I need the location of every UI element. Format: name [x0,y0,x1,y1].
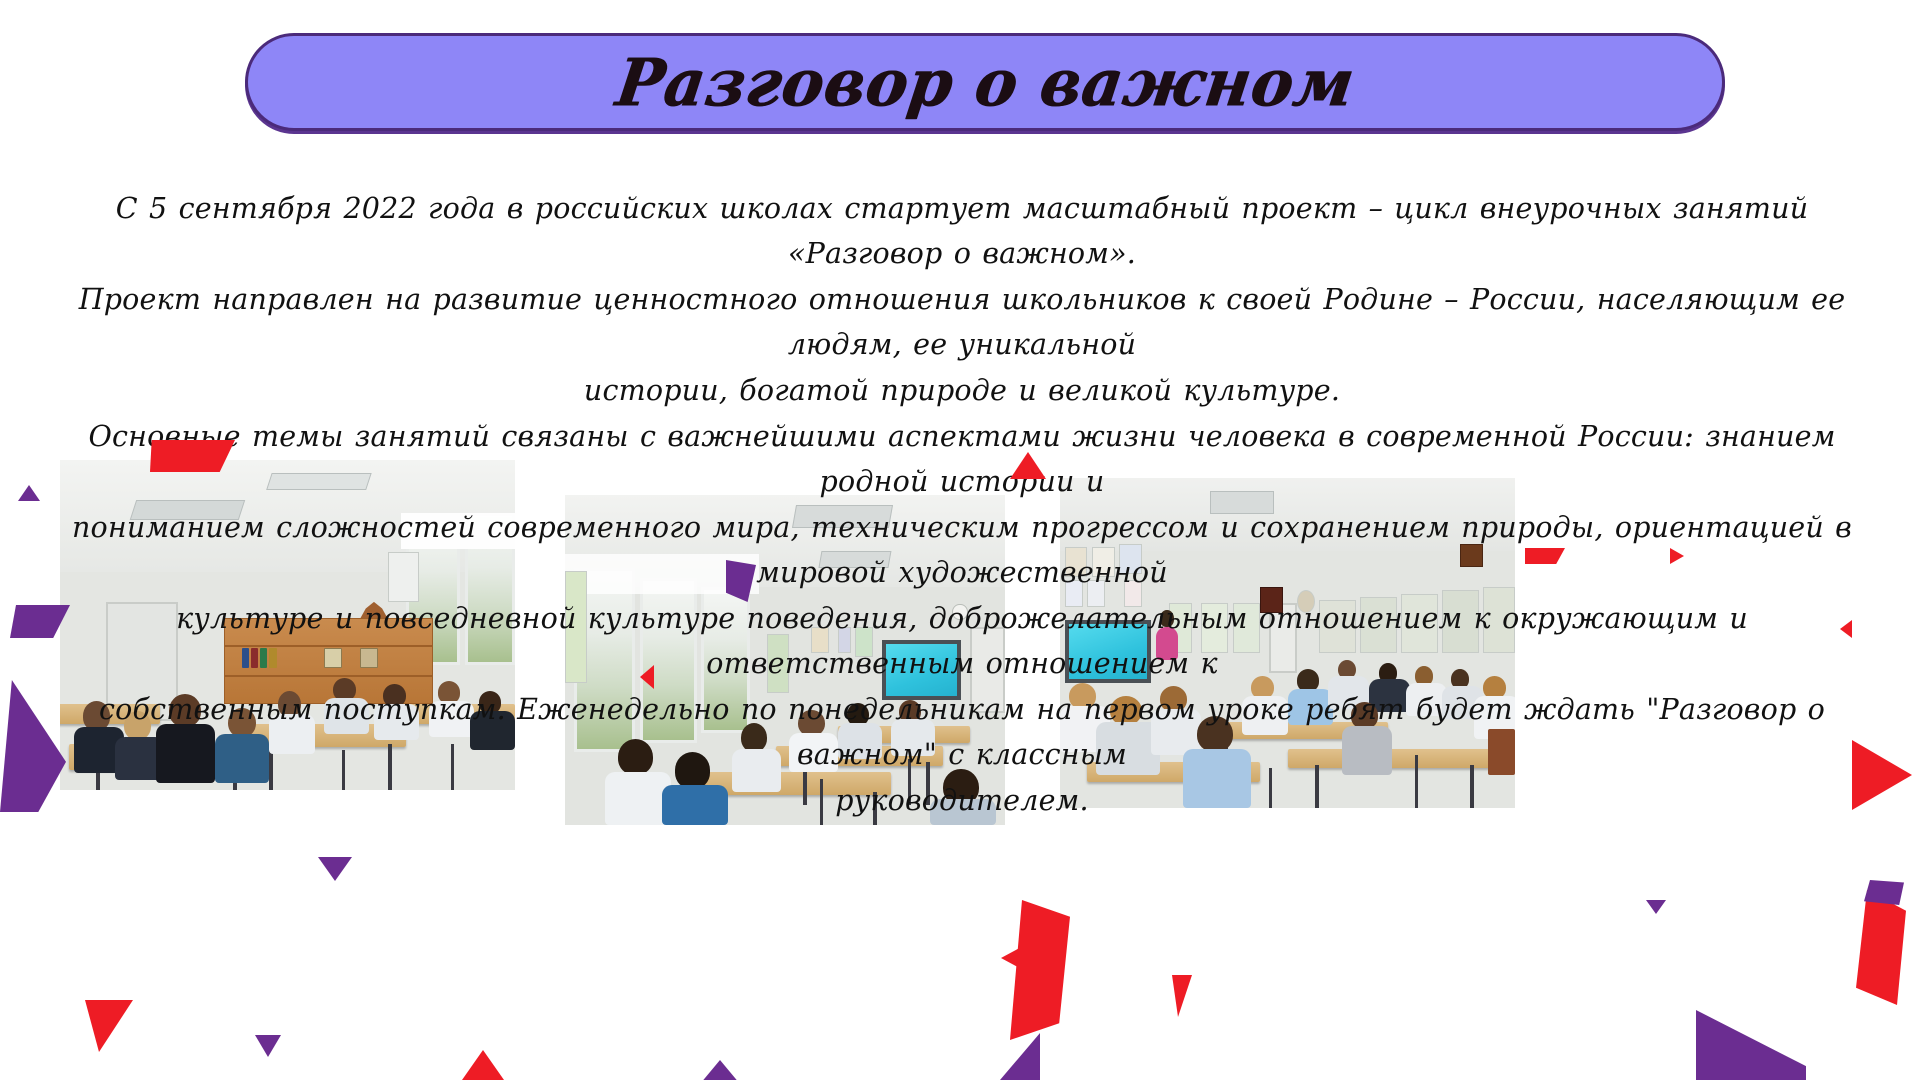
purple-triangle-photo3-bottom [1646,900,1666,914]
red-triangle-photo1-right [1010,900,1070,1040]
paragraph-2-cont-1: пониманием сложностей современного мира,… [62,505,1862,595]
purple-triangle-bottom-center [1000,1033,1040,1080]
paragraph-2-cont-3: собственным поступкам. Еженедельно по по… [62,687,1862,777]
paragraph-1-end: истории, богатой природе и великой культ… [62,368,1862,413]
paragraph-1-line-2: Проект направлен на развитие ценностного… [79,283,1846,361]
page-title: Разговор о важном [611,43,1359,120]
paragraph-2: Основные темы занятий связаны с важнейши… [62,414,1862,504]
paragraph-1-line-1: С 5 сентября 2022 года в российских школ… [116,192,1809,270]
purple-triangle-photo1-bottom [318,857,352,881]
purple-triangle-right-bottom [1696,1010,1806,1080]
red-triangle-right-lower [1856,890,1906,1005]
paragraph-2-line-1: Основные темы занятий связаны с важнейши… [88,420,1835,498]
body-text-block: С 5 сентября 2022 года в российских школ… [62,186,1862,823]
purple-triangle-left-bottom-edge [255,1035,281,1057]
red-triangle-right-small [1670,548,1684,564]
purple-triangle-far-right-small [1864,880,1904,905]
paragraph-1: С 5 сентября 2022 года в российских школ… [62,186,1862,276]
slide-canvas: Разговор о важном С 5 сентября 2022 года… [0,0,1920,1080]
red-triangle-right-edge-small [1840,620,1852,638]
purple-triangle-small-left [18,485,40,501]
paragraph-2-line-2: пониманием сложностей современного мира,… [72,511,1852,589]
paragraph-2-line-4: собственным поступкам. Еженедельно по по… [99,693,1825,771]
paragraph-2-line-3: культуре и повседневной культуре поведен… [176,602,1748,680]
purple-triangle-left-lower [0,680,66,812]
red-triangle-center [1172,975,1192,1017]
paragraph-1-line-3: истории, богатой природе и великой культ… [584,374,1340,407]
paragraph-2-line-5: руководителем. [835,784,1089,817]
red-triangle-right-upper [1010,452,1046,479]
purple-triangle-center-low [700,1060,740,1080]
paragraph-2-end: руководителем. [62,778,1862,823]
paragraph-1-cont: Проект направлен на развитие ценностного… [62,277,1862,367]
paragraph-2-cont-2: культуре и повседневной культуре поведен… [62,596,1862,686]
red-triangle-bottom-left [85,1000,133,1052]
title-banner: Разговор о важном [245,33,1725,131]
red-triangle-center-upper [640,665,654,689]
red-triangle-right-large [1852,740,1912,810]
red-triangle-mid-lowleft [455,1050,511,1080]
